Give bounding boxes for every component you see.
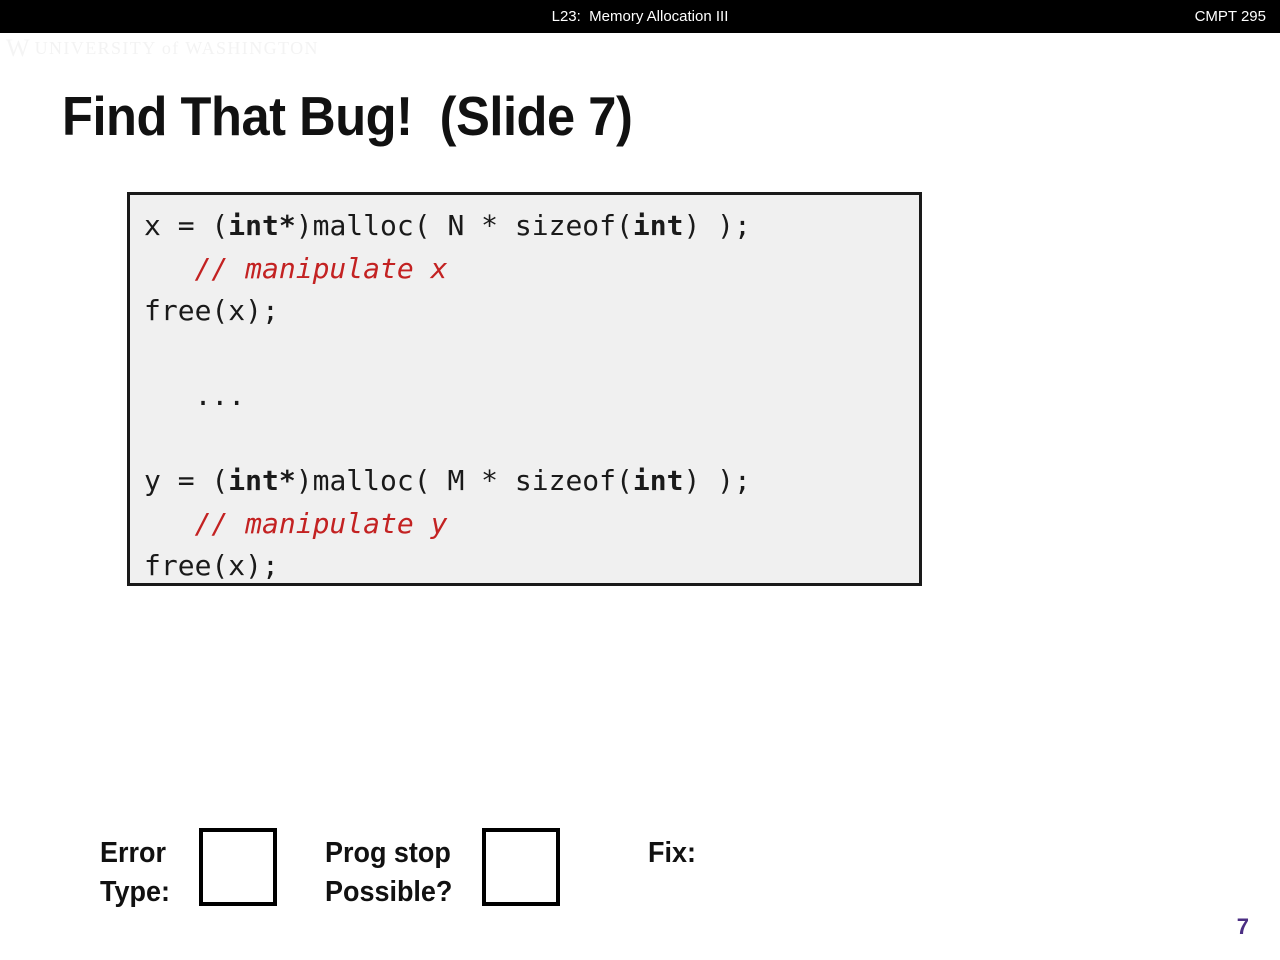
code-line: // manipulate x [144, 248, 919, 291]
code-line: y = (int*)malloc( M * sizeof(int) ); [144, 460, 919, 503]
code-line: ... [144, 375, 919, 418]
code-text: ... [144, 379, 245, 412]
code-text: free(x); [144, 294, 279, 327]
prog-stop-answer-box[interactable] [482, 828, 560, 906]
code-text: x = ( [144, 209, 228, 242]
uw-wordmark-text: UNIVERSITY of WASHINGTON [35, 39, 319, 57]
code-text: )malloc( M * sizeof( [296, 464, 633, 497]
code-text: y = ( [144, 464, 228, 497]
page-title: Find That Bug! (Slide 7) [62, 84, 632, 148]
error-type-answer-box[interactable] [199, 828, 277, 906]
code-blank-line [144, 418, 919, 461]
course-code: CMPT 295 [1195, 0, 1266, 33]
code-line: free(x); [144, 545, 919, 588]
uw-logo-watermark: W UNIVERSITY of WASHINGTON [6, 34, 319, 62]
fix-label: Fix: [648, 828, 696, 873]
code-comment: // manipulate x [144, 252, 447, 285]
label-line: Prog stop [325, 834, 452, 873]
code-keyword: int [633, 209, 684, 242]
label-line: Type: [100, 873, 170, 912]
code-text: ) ); [683, 209, 750, 242]
lecture-title: L23: Memory Allocation III [0, 0, 1280, 33]
code-text: free(x); [144, 549, 279, 582]
answer-row: ErrorType: Prog stopPossible? Fix: [100, 828, 700, 912]
code-line: // manipulate y [144, 503, 919, 546]
label-line: Possible? [325, 873, 452, 912]
code-block: x = (int*)malloc( N * sizeof(int) ); // … [127, 192, 922, 586]
slide-canvas: L23: Memory Allocation III CMPT 295 W UN… [0, 0, 1280, 960]
error-type-label: ErrorType: [100, 828, 170, 912]
code-text: )malloc( N * sizeof( [296, 209, 633, 242]
slide-number: 7 [1237, 914, 1249, 940]
code-keyword: int [633, 464, 684, 497]
uw-w-icon: W [6, 36, 27, 61]
header-bar: L23: Memory Allocation III CMPT 295 [0, 0, 1280, 33]
code-line: free(x); [144, 290, 919, 333]
code-keyword: int* [228, 209, 295, 242]
code-comment: // manipulate y [144, 507, 447, 540]
code-keyword: int* [228, 464, 295, 497]
code-line: x = (int*)malloc( N * sizeof(int) ); [144, 205, 919, 248]
prog-stop-label: Prog stopPossible? [325, 828, 452, 912]
code-blank-line [144, 333, 919, 376]
code-text: ) ); [683, 464, 750, 497]
label-line: Error [100, 834, 170, 873]
